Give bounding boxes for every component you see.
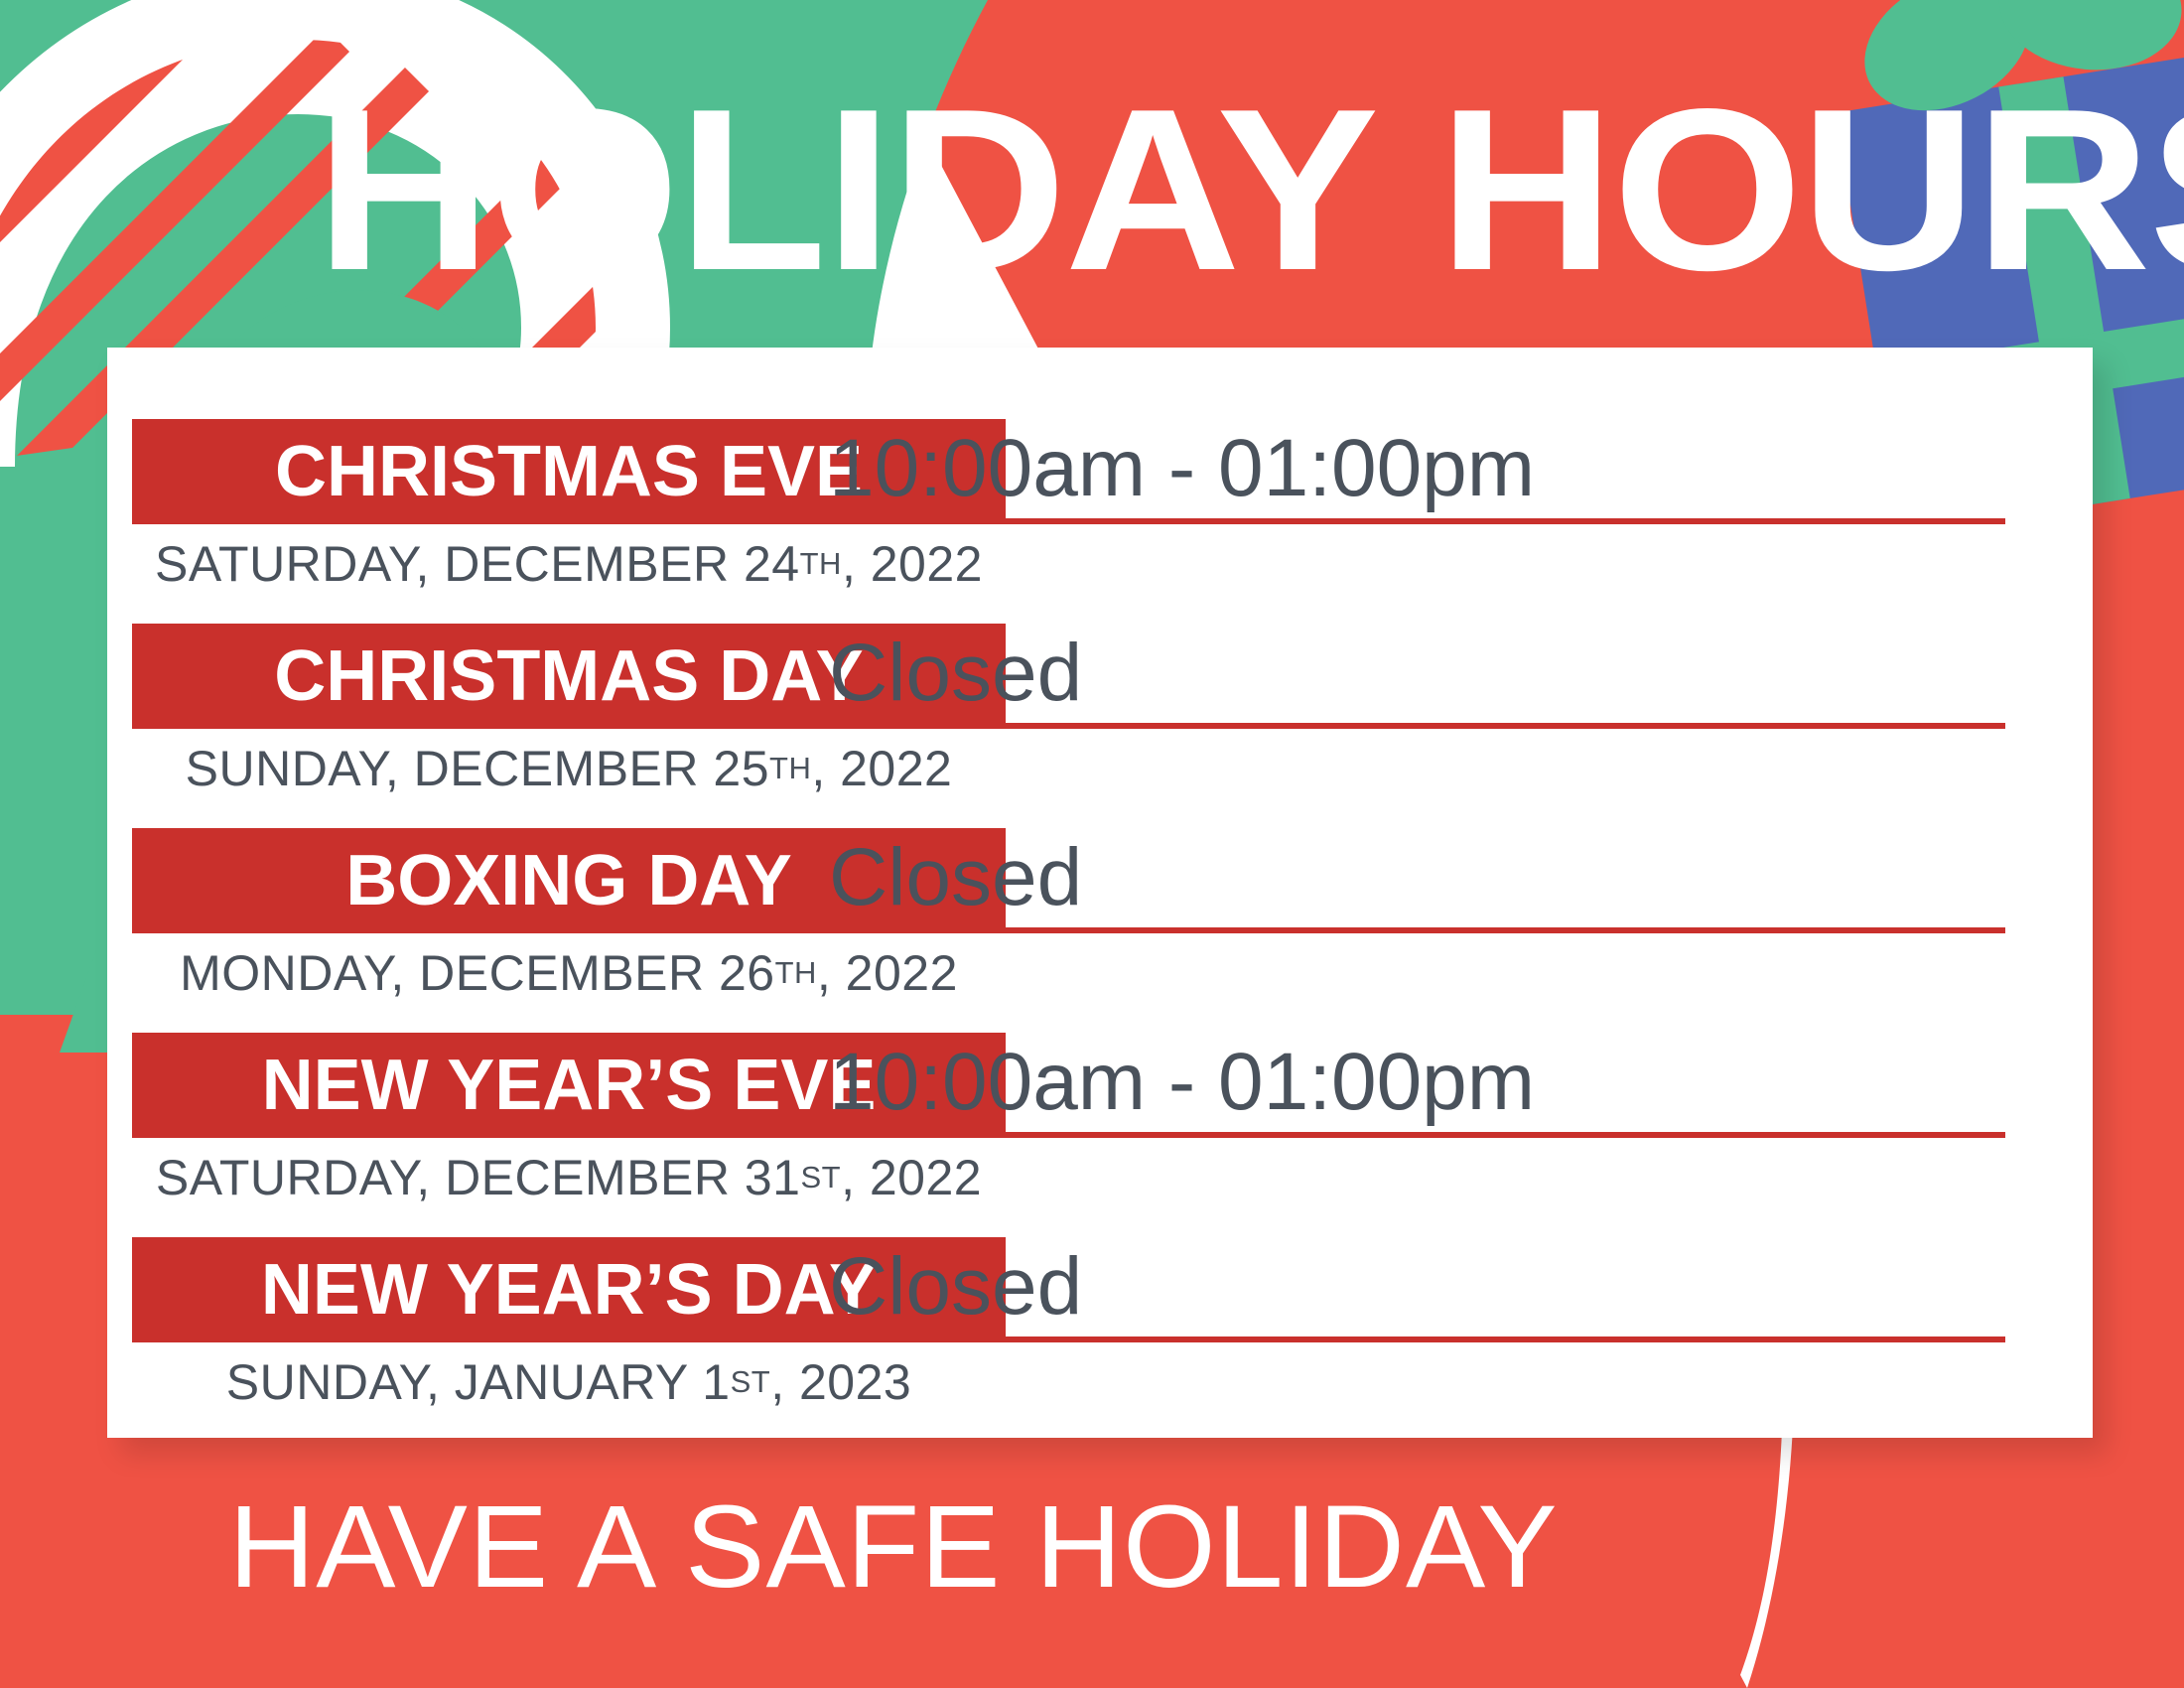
schedule-card: CHRISTMAS EVE 10:00am - 01:00pm SATURDAY… <box>107 348 2093 1438</box>
holiday-date: MONDAY, DECEMBER 26TH, 2022 <box>132 941 1006 1005</box>
table-row: CHRISTMAS EVE 10:00am - 01:00pm SATURDAY… <box>107 411 2093 616</box>
holiday-name: BOXING DAY <box>345 845 791 916</box>
holiday-date: SATURDAY, DECEMBER 31ST, 2022 <box>132 1146 1006 1209</box>
holiday-date: SUNDAY, JANUARY 1ST, 2023 <box>132 1350 1006 1414</box>
holiday-date: SATURDAY, DECEMBER 24TH, 2022 <box>132 532 1006 596</box>
hours-underline <box>1006 1336 2005 1342</box>
holiday-hours: Closed <box>829 1233 2020 1340</box>
footer-message: HAVE A SAFE HOLIDAY <box>0 1487 1805 1607</box>
table-row: BOXING DAY Closed MONDAY, DECEMBER 26TH,… <box>107 820 2093 1025</box>
holiday-hours: Closed <box>829 620 2020 727</box>
date-prefix: SUNDAY, DECEMBER 25 <box>186 741 769 796</box>
holiday-name: NEW YEAR’S DAY <box>261 1254 877 1326</box>
table-row: CHRISTMAS DAY Closed SUNDAY, DECEMBER 25… <box>107 616 2093 820</box>
holiday-hours: 10:00am - 01:00pm <box>829 1029 2020 1136</box>
holiday-name: NEW YEAR’S EVE <box>262 1050 877 1121</box>
holiday-name: CHRISTMAS DAY <box>274 640 863 712</box>
date-year: , 2022 <box>841 1150 982 1205</box>
table-row: NEW YEAR’S EVE 10:00am - 01:00pm SATURDA… <box>107 1025 2093 1229</box>
date-prefix: SATURDAY, DECEMBER 24 <box>155 536 800 592</box>
hours-underline <box>1006 927 2005 933</box>
page-title: HOLIDAY HOURS <box>316 77 2041 306</box>
holiday-name: CHRISTMAS EVE <box>275 436 863 507</box>
date-prefix: SUNDAY, JANUARY 1 <box>226 1354 731 1410</box>
poster-canvas: HOLIDAY HOURS CHRISTMAS EVE 10:00am - 01… <box>0 0 2184 1688</box>
hours-underline <box>1006 723 2005 729</box>
date-prefix: SATURDAY, DECEMBER 31 <box>156 1150 801 1205</box>
hours-underline <box>1006 518 2005 524</box>
holiday-hours: 10:00am - 01:00pm <box>829 415 2020 522</box>
date-year: , 2022 <box>842 536 983 592</box>
date-year: , 2023 <box>770 1354 911 1410</box>
table-row: NEW YEAR’S DAY Closed SUNDAY, JANUARY 1S… <box>107 1229 2093 1434</box>
date-prefix: MONDAY, DECEMBER 26 <box>180 945 774 1001</box>
holiday-hours: Closed <box>829 824 2020 931</box>
date-year: , 2022 <box>811 741 952 796</box>
holiday-date: SUNDAY, DECEMBER 25TH, 2022 <box>132 737 1006 800</box>
date-year: , 2022 <box>817 945 958 1001</box>
hours-underline <box>1006 1132 2005 1138</box>
